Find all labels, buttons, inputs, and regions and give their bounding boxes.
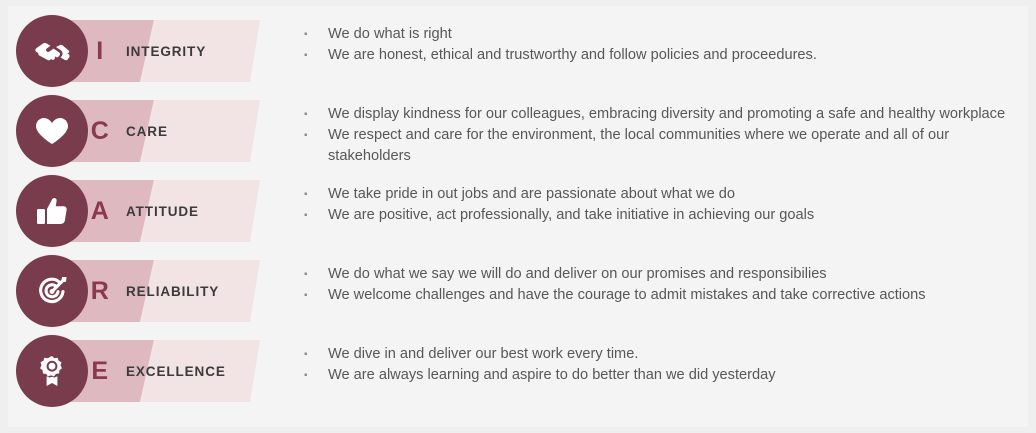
list-item: ▪ We respect and care for the environmen… bbox=[302, 125, 1028, 167]
values-infographic: I INTEGRITY ▪ We do bbox=[0, 0, 1036, 433]
value-label-care: CARE bbox=[126, 100, 168, 162]
value-icon-circle-care bbox=[16, 95, 88, 167]
value-label-excellence: EXCELLENCE bbox=[126, 340, 226, 402]
value-icon-circle-excellence bbox=[16, 335, 88, 407]
bullet-text: We welcome challenges and have the coura… bbox=[328, 285, 1018, 306]
bullet-marker: ▪ bbox=[302, 45, 328, 66]
bullet-marker: ▪ bbox=[302, 104, 328, 125]
thumbs-up-icon bbox=[33, 192, 71, 230]
value-bullets-care: ▪ We display kindness for our colleagues… bbox=[260, 100, 1028, 167]
bullet-text: We are positive, act professionally, and… bbox=[328, 205, 1018, 226]
value-bullets-attitude: ▪ We take pride in out jobs and are pass… bbox=[260, 180, 1028, 226]
value-label-attitude: ATTITUDE bbox=[126, 180, 199, 242]
bullet-marker: ▪ bbox=[302, 184, 328, 205]
list-item: ▪ We do what we say we will do and deliv… bbox=[302, 264, 1028, 285]
bullet-text: We take pride in out jobs and are passio… bbox=[328, 184, 1018, 205]
bullet-text: We do what we say we will do and deliver… bbox=[328, 264, 1018, 285]
bullet-marker: ▪ bbox=[302, 344, 328, 365]
bullet-marker: ▪ bbox=[302, 365, 328, 386]
bullet-text: We dive in and deliver our best work eve… bbox=[328, 344, 1018, 365]
bullet-marker: ▪ bbox=[302, 24, 328, 45]
infographic-canvas: I INTEGRITY ▪ We do bbox=[8, 6, 1028, 427]
list-item: ▪ We take pride in out jobs and are pass… bbox=[302, 184, 1028, 205]
list-item: ▪ We are always learning and aspire to d… bbox=[302, 365, 1028, 386]
heart-icon bbox=[33, 112, 71, 150]
bullet-text: We are honest, ethical and trustworthy a… bbox=[328, 45, 1018, 66]
value-row-care: C CARE ▪ We display kindness for our col… bbox=[8, 100, 1028, 167]
value-label-integrity: INTEGRITY bbox=[126, 20, 206, 82]
bullet-text: We display kindness for our colleagues, … bbox=[328, 104, 1018, 125]
list-item: ▪ We are honest, ethical and trustworthy… bbox=[302, 45, 1028, 66]
value-bullets-reliability: ▪ We do what we say we will do and deliv… bbox=[260, 260, 1028, 306]
list-item: ▪ We dive in and deliver our best work e… bbox=[302, 344, 1028, 365]
value-bullets-integrity: ▪ We do what is right ▪ We are honest, e… bbox=[260, 20, 1028, 66]
target-dart-icon bbox=[33, 272, 71, 310]
bullet-marker: ▪ bbox=[302, 285, 328, 306]
value-icon-circle-integrity bbox=[16, 15, 88, 87]
bullet-text: We do what is right bbox=[328, 24, 1018, 45]
value-icon-circle-attitude bbox=[16, 175, 88, 247]
bullet-marker: ▪ bbox=[302, 264, 328, 285]
bullet-text: We respect and care for the environment,… bbox=[328, 125, 1018, 167]
bullet-text: We are always learning and aspire to do … bbox=[328, 365, 1018, 386]
value-bullets-excellence: ▪ We dive in and deliver our best work e… bbox=[260, 340, 1028, 386]
bullet-marker: ▪ bbox=[302, 205, 328, 226]
value-row-integrity: I INTEGRITY ▪ We do bbox=[8, 20, 1028, 66]
value-label-reliability: RELIABILITY bbox=[126, 260, 219, 322]
value-icon-circle-reliability bbox=[16, 255, 88, 327]
list-item: ▪ We display kindness for our colleagues… bbox=[302, 104, 1028, 125]
value-row-excellence: E EXCELLENCE bbox=[8, 340, 1028, 386]
list-item: ▪ We do what is right bbox=[302, 24, 1028, 45]
award-ribbon-icon bbox=[33, 352, 71, 390]
value-row-reliability: R RELIABILITY bbox=[8, 260, 1028, 306]
value-row-attitude: A ATTITUDE ▪ We tak bbox=[8, 180, 1028, 226]
handshake-icon bbox=[32, 31, 72, 71]
list-item: ▪ We welcome challenges and have the cou… bbox=[302, 285, 1028, 306]
list-item: ▪ We are positive, act professionally, a… bbox=[302, 205, 1028, 226]
bullet-marker: ▪ bbox=[302, 125, 328, 146]
